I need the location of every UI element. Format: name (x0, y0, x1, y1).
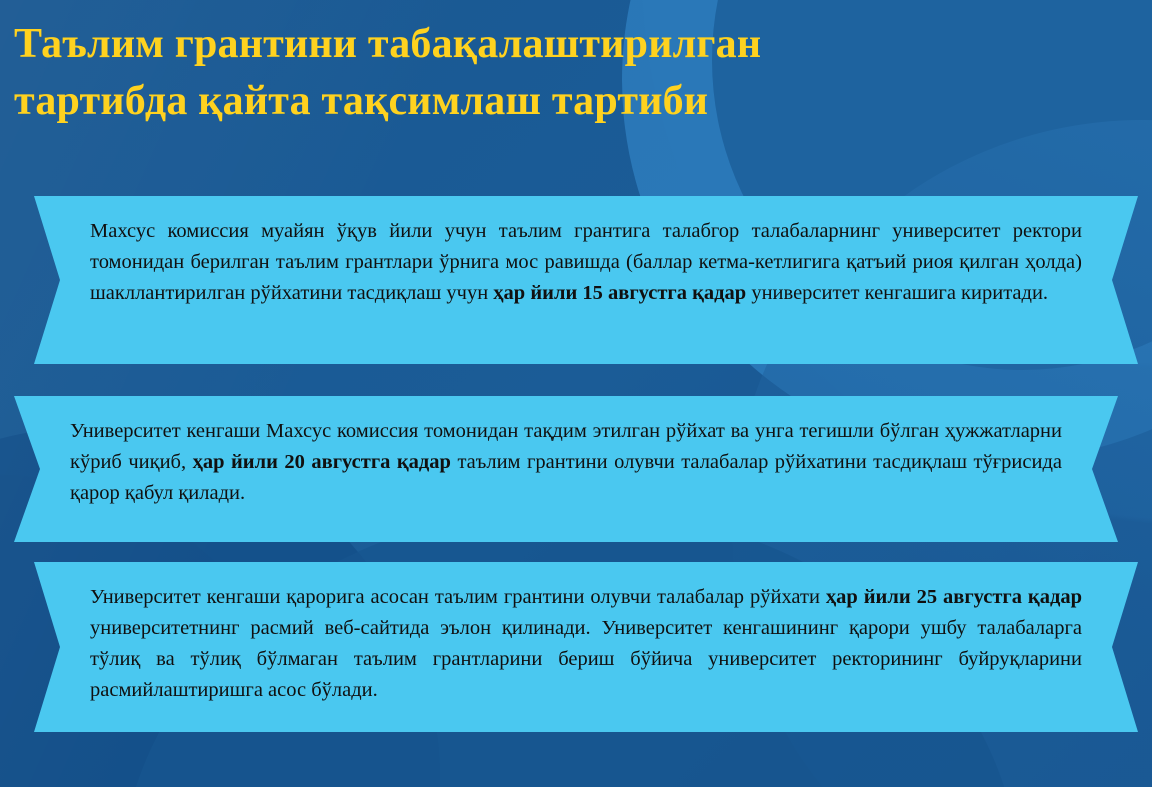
slide-canvas: Таълим грантини табақалаштирилган тартиб… (0, 0, 1152, 787)
banner-1-text: Махсус комиссия муайян ўқув йили учун та… (34, 196, 1138, 329)
page-title-line-2: тартибда қайта тақсимлаш тартиби (14, 73, 1014, 130)
content-banner-2: Университет кенгаши Махсус комиссия томо… (14, 396, 1118, 542)
banner-3-text: Университет кенгаши қарорига асосан таъл… (34, 562, 1138, 727)
content-banner-1: Махсус комиссия муайян ўқув йили учун та… (34, 196, 1138, 364)
banner-2-text: Университет кенгаши Махсус комиссия томо… (14, 396, 1118, 529)
content-banner-3: Университет кенгаши қарорига асосан таъл… (34, 562, 1138, 732)
page-title: Таълим грантини табақалаштирилган тартиб… (14, 16, 1014, 129)
page-title-line-1: Таълим грантини табақалаштирилган (14, 16, 1014, 73)
